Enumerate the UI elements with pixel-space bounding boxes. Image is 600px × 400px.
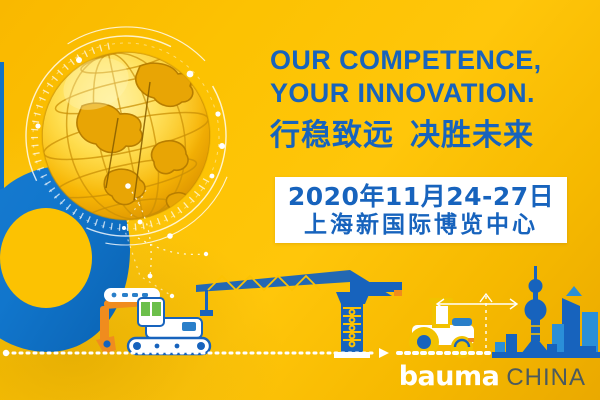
logo-region: CHINA	[506, 366, 586, 390]
event-date: 2020年11月24-27日	[275, 182, 567, 211]
headline-chinese-left: 行稳致远	[270, 118, 394, 153]
headline-line-1: OUR COMPETENCE,	[270, 44, 590, 77]
event-venue: 上海新国际博览中心	[275, 211, 567, 240]
construction-scene	[0, 252, 600, 362]
headline-chinese: 行稳致远决胜未来	[270, 114, 590, 158]
logo-wordmark: bauma	[399, 363, 500, 390]
bauma-china-banner: OUR COMPETENCE, YOUR INNOVATION. 行稳致远决胜未…	[0, 0, 600, 400]
headline-line-2: YOUR INNOVATION.	[270, 77, 590, 110]
date-venue-plate: 2020年11月24-27日 上海新国际博览中心	[275, 177, 567, 243]
headline-block: OUR COMPETENCE, YOUR INNOVATION. 行稳致远决胜未…	[270, 44, 590, 158]
bauma-china-logo: bauma CHINA	[399, 363, 586, 390]
headline-chinese-right: 决胜未来	[410, 118, 534, 153]
